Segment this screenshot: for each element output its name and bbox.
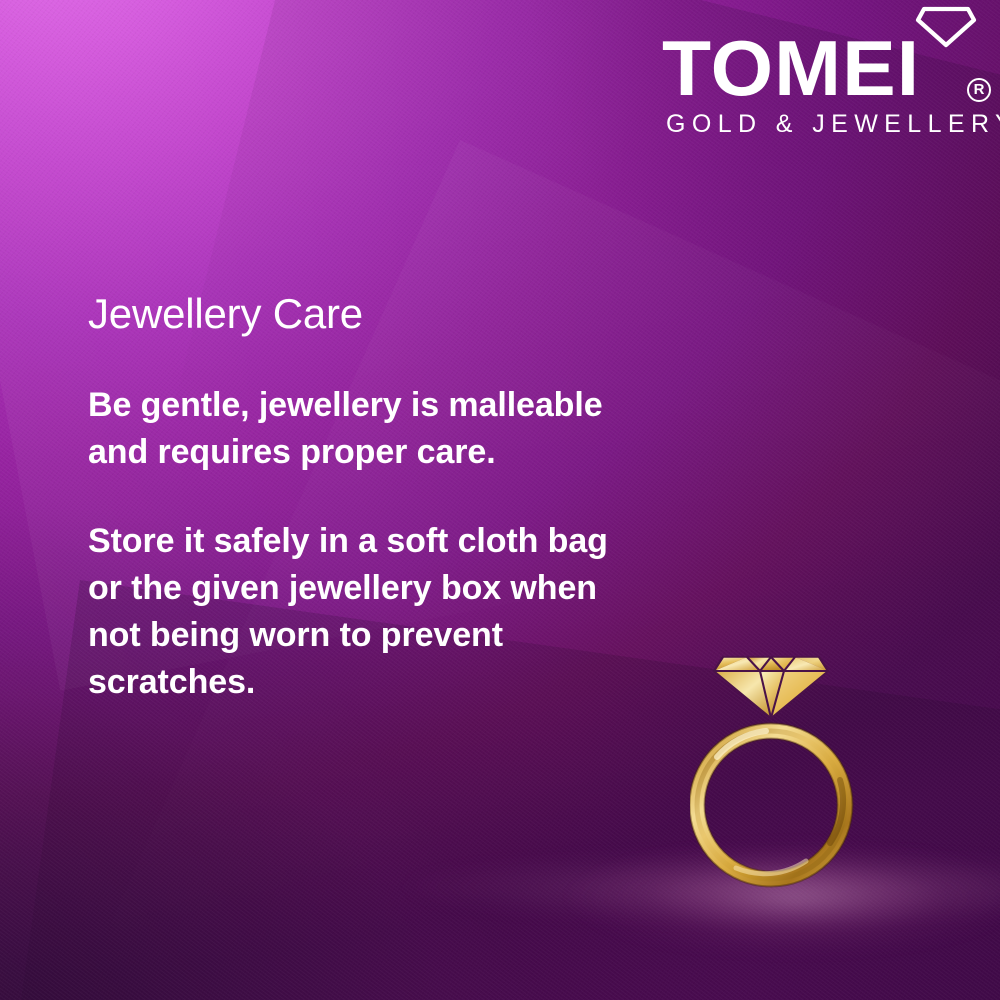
diamond-ring-illustration [690,640,890,890]
tomei-logo[interactable]: TOMEI R GOLD & JEWELLERY [662,6,992,138]
care-paragraph-2: Store it safely in a soft cloth bag or t… [88,518,648,706]
ring-band-icon [690,724,853,887]
care-paragraph-1: Be gentle, jewellery is malleable and re… [88,382,648,476]
registered-trademark-icon: R [967,78,991,102]
logo-tagline: GOLD & JEWELLERY [666,112,1000,137]
gem-icon [714,657,828,718]
poster-canvas: TOMEI R GOLD & JEWELLERY Jewellery Care … [0,0,1000,1000]
care-copy-block: Jewellery Care Be gentle, jewellery is m… [88,290,648,706]
logo-wordmark: TOMEI [662,29,920,107]
page-title: Jewellery Care [88,290,648,338]
diamond-outline-icon [915,6,977,48]
